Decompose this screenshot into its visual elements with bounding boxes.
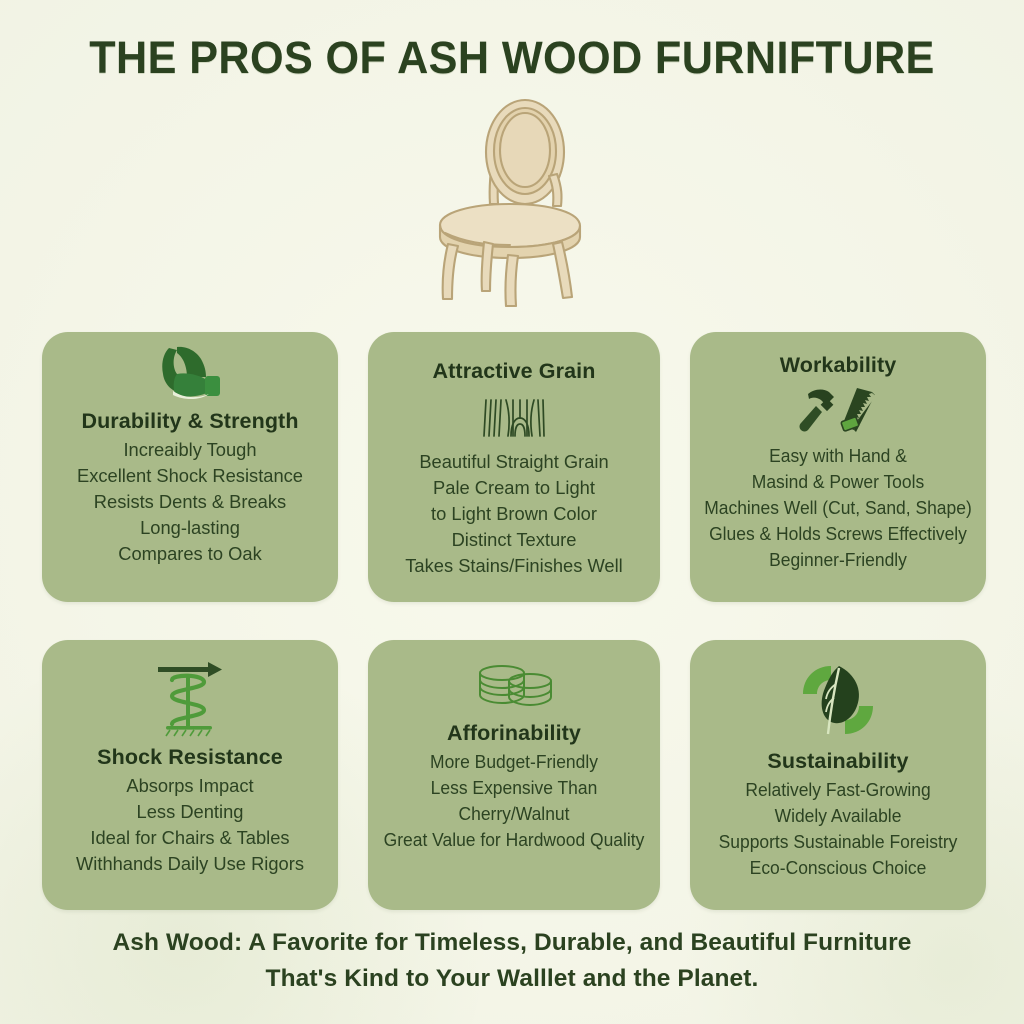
card-lines: Beautiful Straight Grain Pale Cream to L… — [374, 449, 654, 579]
card-line: Machines Well (Cut, Sand, Shape) — [700, 495, 975, 521]
card-shock-resistance[interactable]: Shock Resistance Absorps Impact Less Den… — [42, 640, 338, 910]
card-line: Withhands Daily Use Rigors — [49, 851, 330, 877]
infographic-page: THE PROS OF ASH WOOD FURNIFTURE — [0, 0, 1024, 1024]
card-line: Pale Cream to Light — [375, 475, 652, 501]
card-line: More Budget-Friendly — [378, 749, 650, 775]
card-line: Resists Dents & Breaks — [49, 489, 330, 515]
card-lines: Absorps Impact Less Denting Ideal for Ch… — [48, 773, 332, 877]
footer-tagline: Ash Wood: A Favorite for Timeless, Durab… — [0, 925, 1024, 997]
card-affordability[interactable]: Afforinability More Budget-Friendly Less… — [368, 640, 660, 910]
pros-card-grid: Durability & Strength Increaibly Tough E… — [42, 332, 986, 910]
card-line: Excellent Shock Resistance — [49, 463, 330, 489]
footer-line-1: Ash Wood: A Favorite for Timeless, Durab… — [0, 925, 1024, 961]
card-line: Less Expensive Than — [378, 775, 650, 801]
card-title: Attractive Grain — [433, 358, 596, 384]
footer-line-2: That's Kind to Your Walllet and the Plan… — [0, 961, 1024, 997]
card-line: Beautiful Straight Grain — [375, 449, 652, 475]
page-title: THE PROS OF ASH WOOD FURNIFTURE — [20, 32, 1003, 84]
flexed-bicep-icon — [153, 340, 227, 406]
card-line: Less Denting — [49, 799, 330, 825]
card-line: Cherry/Walnut — [378, 801, 650, 827]
card-line: Distinct Texture — [375, 527, 652, 553]
card-line: Absorps Impact — [49, 773, 330, 799]
card-attractive-grain[interactable]: Attractive Grain — [368, 332, 660, 602]
card-lines: Increaibly Tough Excellent Shock Resista… — [48, 437, 332, 567]
wood-grain-icon — [482, 387, 546, 449]
card-line: Eco-Conscious Choice — [700, 855, 975, 881]
card-line: to Light Brown Color — [375, 501, 652, 527]
card-line: Long-lasting — [49, 515, 330, 541]
card-title: Durability & Strength — [81, 408, 298, 434]
card-line: Easy with Hand & — [700, 443, 975, 469]
card-title: Sustainability — [767, 748, 908, 774]
card-lines: Easy with Hand & Masind & Power Tools Ma… — [696, 443, 980, 573]
dining-chair-illustration — [412, 92, 612, 307]
card-title: Shock Resistance — [97, 744, 283, 770]
card-lines: More Budget-Friendly Less Expensive Than… — [374, 749, 654, 853]
card-lines: Relatively Fast-Growing Widely Available… — [696, 777, 980, 881]
card-line: Masind & Power Tools — [700, 469, 975, 495]
card-line: Takes Stains/Finishes Well — [375, 553, 652, 579]
card-line: Widely Available — [700, 803, 975, 829]
spring-with-arrow-icon — [152, 654, 228, 742]
leaf-recycle-icon — [795, 654, 881, 746]
card-line: Great Value for Hardwood Quality — [378, 827, 650, 853]
card-line: Beginner-Friendly — [700, 547, 975, 573]
card-workability[interactable]: Workability — [690, 332, 986, 602]
card-durability-strength[interactable]: Durability & Strength Increaibly Tough E… — [42, 332, 338, 602]
card-line: Glues & Holds Screws Effectively — [700, 521, 975, 547]
card-line: Increaibly Tough — [49, 437, 330, 463]
stacked-coins-icon — [474, 656, 554, 718]
hammer-and-saw-icon — [796, 381, 880, 443]
card-sustainability[interactable]: Sustainability Relatively Fast-Growing W… — [690, 640, 986, 910]
card-title: Workability — [780, 352, 897, 378]
card-line: Relatively Fast-Growing — [700, 777, 975, 803]
card-line: Supports Sustainable Foreistry — [700, 829, 975, 855]
card-line: Compares to Oak — [49, 541, 330, 567]
card-line: Ideal for Chairs & Tables — [49, 825, 330, 851]
card-title: Afforinability — [447, 720, 581, 746]
